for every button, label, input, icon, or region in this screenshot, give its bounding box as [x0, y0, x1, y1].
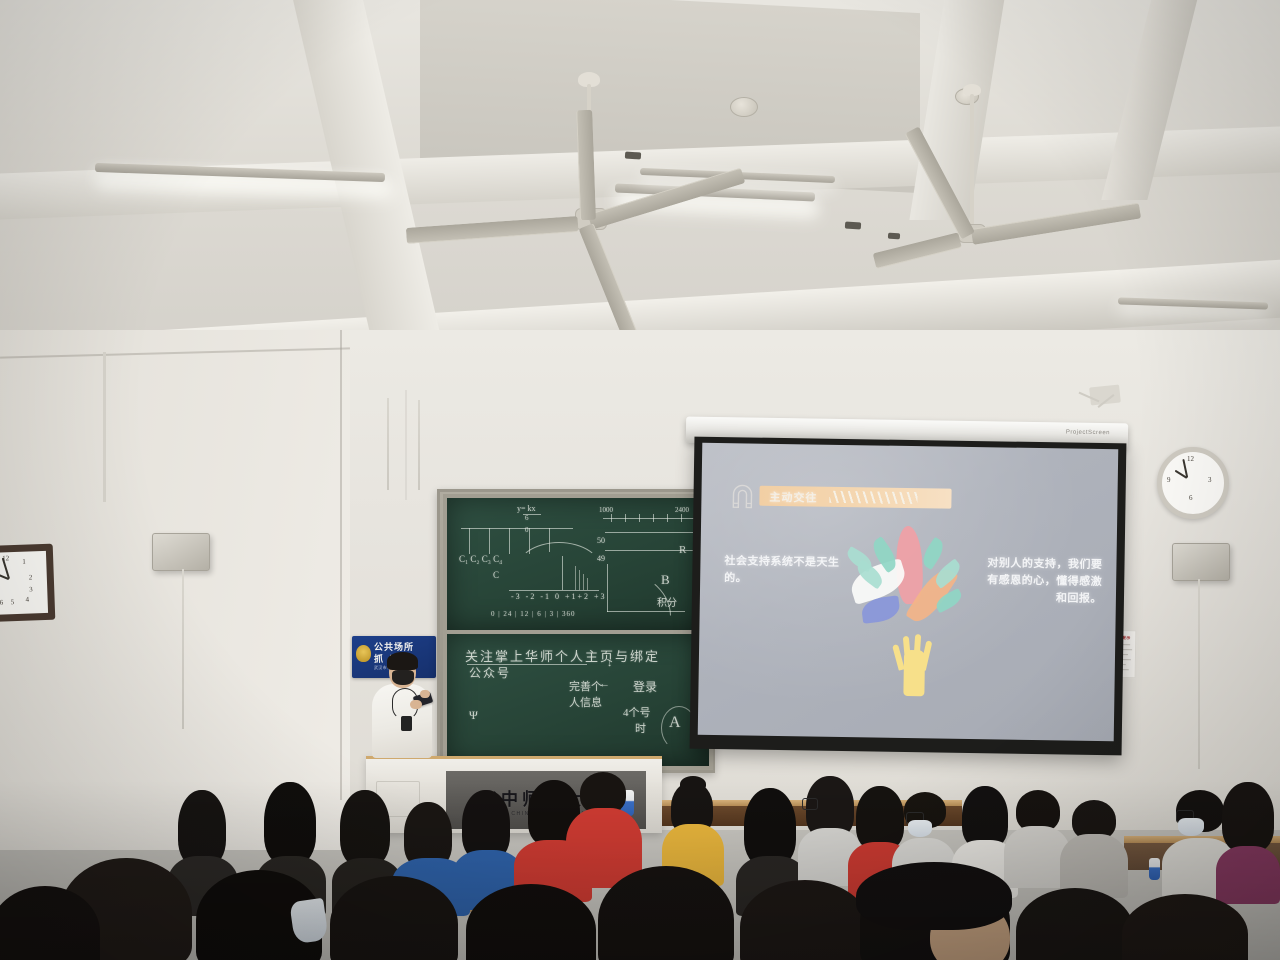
ceiling-beam-diagonal-right [909, 0, 1010, 220]
ceiling-vent [888, 233, 900, 240]
chalk-line-sub: 公众号 [469, 664, 511, 681]
presenter-hair [387, 652, 418, 670]
square-wall-clock: 11 12 1 2 3 4 5 6 7 [0, 544, 55, 623]
blackboard-lower-panel: 关注掌上华师个人主页与绑定 公众号 完善个 人信息 登录 4个号 时 A ↓ ←… [443, 630, 713, 770]
wall-conduit [103, 352, 106, 502]
slide-title-bar: 主动交往 [759, 486, 951, 509]
lecture-hall-photo: 11 12 1 2 3 4 5 6 7 12 3 6 9 公 [0, 0, 1280, 960]
title-hatch-pattern [829, 491, 917, 504]
wall-speaker-left [152, 533, 210, 571]
wall-seam [405, 390, 407, 500]
slide-text-right: 对别人的支持，我们要有感恩的心，懂得感激和回报。 [984, 555, 1103, 608]
round-wall-clock: 12 3 6 9 [1157, 447, 1229, 519]
water-bottle [1149, 858, 1160, 880]
chalk-line-3: 完善个 [569, 678, 602, 694]
presenter-face-mask [392, 670, 414, 685]
chalk-line-6: 4个号 [623, 704, 651, 720]
slide-title: 主动交往 [769, 489, 817, 506]
chalk-line-main: 关注掌上华师个人主页与绑定 [465, 646, 660, 665]
presenter-id-card [401, 716, 412, 731]
ceiling-vent [625, 151, 641, 159]
chalk-line-5: 登录 [633, 678, 657, 695]
leaf-teal-3 [919, 537, 948, 570]
screen-brand-label: ProjectScreen [1066, 429, 1110, 436]
speaker-cable [1198, 579, 1200, 769]
police-badge-icon [356, 645, 371, 662]
speaker-cable [182, 569, 184, 729]
slide-text-left: 社会支持系统不是天生的。 [724, 553, 855, 589]
presenter-hand [410, 700, 422, 709]
wall-speaker-right [1172, 543, 1230, 581]
smoke-detector-icon [730, 97, 758, 117]
hand-trunk [896, 622, 931, 695]
projector-screen-surface[interactable]: 主动交往 社会支持系统不是天生的。 对别人的支持，我们要有感恩的心，懂得感激和回… [698, 443, 1119, 741]
chalk-line-7: 时 [635, 720, 646, 736]
presenter-hand [420, 690, 430, 698]
hand-tree-illustration [844, 523, 977, 695]
magnet-icon [729, 481, 755, 509]
wall-conduit [387, 398, 389, 490]
wall-seam [340, 330, 342, 800]
wall-conduit [418, 400, 420, 490]
chalk-line-4: 人信息 [569, 694, 602, 710]
ceiling-vent [845, 221, 861, 229]
blackboard-upper-panel: C₁ C₂ C₃ C₄ C -3 -2 -1 0 +1+2 +3 0 | 24 … [443, 494, 713, 634]
